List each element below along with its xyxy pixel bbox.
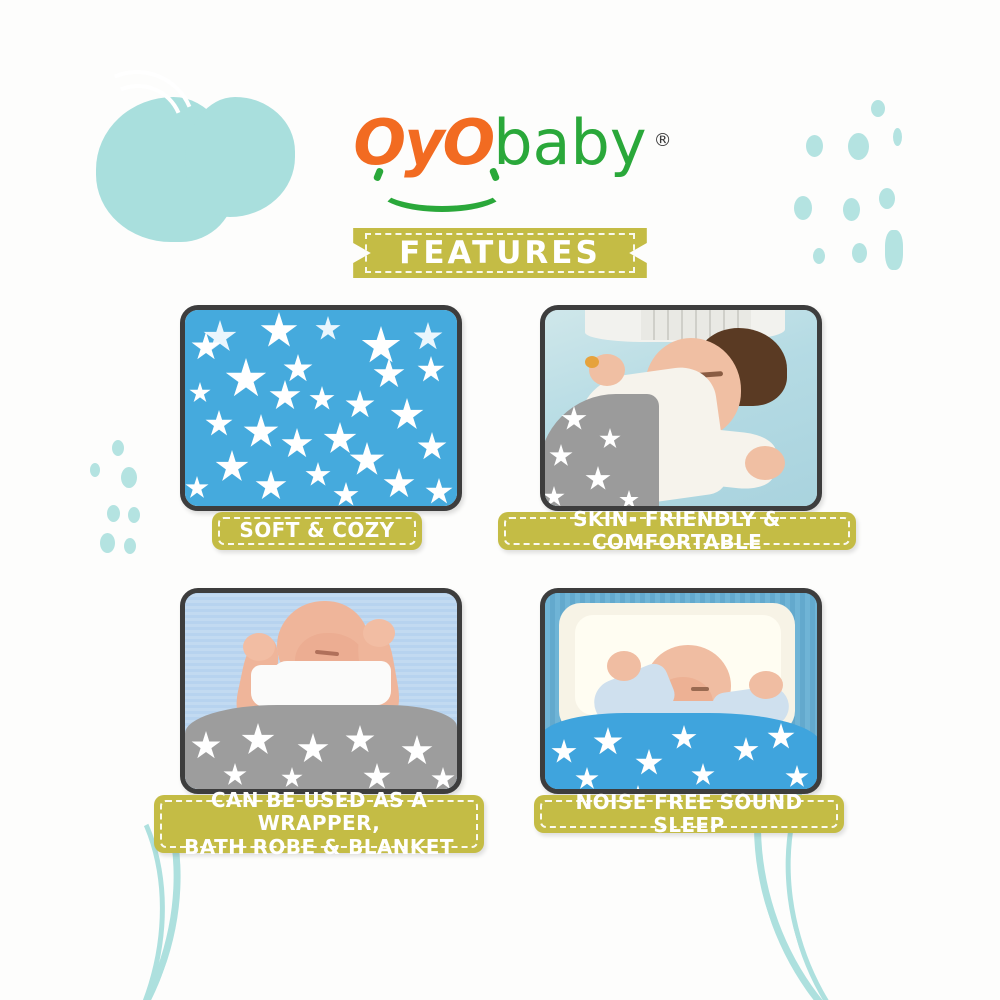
feature-label-text: NOISE FREE SOUND SLEEP (534, 795, 844, 833)
feature-poster: OyObaby ® FEATURES (0, 0, 1000, 1000)
grey-star-blanket (185, 705, 457, 789)
feature-image-soft-cozy (180, 305, 462, 511)
dot-icon (107, 505, 120, 522)
logo-lockup: OyObaby ® (353, 112, 646, 175)
baby-fist-left (243, 633, 275, 661)
dot-icon (843, 198, 860, 221)
feature-image-noise-free (540, 588, 822, 794)
baby-fist-right (363, 619, 395, 647)
star-icon (691, 763, 715, 787)
dot-icon (121, 467, 137, 488)
star-icon (431, 767, 455, 791)
feature-label-text: SKIN- FRIENDLY & COMFORTABLE (498, 512, 856, 550)
star-icon (297, 733, 329, 765)
star-icon (635, 749, 663, 777)
brand-logo: OyObaby ® (0, 112, 1000, 198)
star-icon (551, 739, 577, 765)
star-icon (671, 725, 697, 751)
star-icon (593, 727, 623, 757)
dot-icon (112, 440, 124, 456)
logo-secondary-text: baby (493, 106, 646, 179)
feature-label-wrapper: CAN BE USED AS A WRAPPER, BATH ROBE & BL… (154, 795, 484, 853)
feature-label-text: CAN BE USED AS A WRAPPER, BATH ROBE & BL… (154, 795, 484, 853)
features-banner: FEATURES (0, 228, 1000, 284)
star-icon (767, 723, 795, 751)
star-icon (543, 486, 565, 508)
photo-scene (545, 310, 817, 506)
star-icon (401, 735, 433, 767)
features-ribbon: FEATURES (353, 228, 647, 278)
star-icon (191, 731, 221, 761)
onesie-sleeve-right (347, 661, 391, 705)
star-icon (345, 725, 375, 755)
features-title: FEATURES (399, 228, 601, 278)
smile-curve-icon (377, 166, 507, 212)
star-icon (785, 765, 809, 789)
baby-hand-left (607, 651, 641, 681)
dot-icon (100, 533, 115, 553)
baby-hand-right (745, 446, 785, 480)
feature-label-text: SOFT & COZY (212, 512, 422, 550)
baby-hand-right (749, 671, 783, 699)
star-icon (241, 723, 275, 757)
feature-label-soft-cozy: SOFT & COZY (212, 512, 422, 550)
dot-icon (128, 507, 140, 523)
star-icon (223, 763, 247, 787)
star-icon (549, 444, 573, 468)
feature-image-wrapper (180, 588, 462, 794)
dot-icon (794, 196, 812, 220)
star-icon (281, 767, 303, 789)
dot-icon (90, 463, 100, 477)
feature-label-skin-friendly: SKIN- FRIENDLY & COMFORTABLE (498, 512, 856, 550)
blue-star-blanket (541, 713, 821, 793)
photo-scene (545, 593, 817, 789)
dot-icon (124, 538, 136, 554)
photo-scene (185, 593, 457, 789)
star-icon (733, 737, 759, 763)
registered-mark-icon: ® (654, 110, 671, 172)
star-icon (363, 763, 391, 791)
star-icon (599, 428, 621, 450)
baby-eye (691, 687, 709, 691)
star-icon (575, 767, 599, 791)
star-icon (585, 466, 611, 492)
onesie-sleeve-left (251, 665, 293, 707)
feature-label-noise-free: NOISE FREE SOUND SLEEP (534, 795, 844, 833)
toy-dot-icon (585, 356, 599, 368)
feature-image-skin-friendly (540, 305, 822, 511)
